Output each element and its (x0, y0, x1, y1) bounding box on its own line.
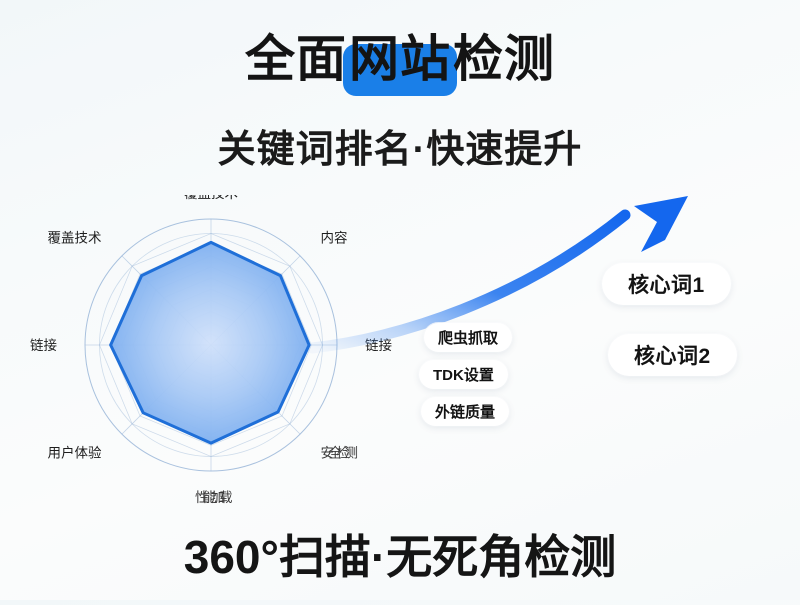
radar-axis-label-bottom-left: 用户体验 (48, 445, 102, 461)
keyword-pill-1[interactable]: 核心词1 (602, 263, 731, 305)
radar-axis-label-top-right: 内容 (321, 230, 348, 246)
radar-axis-label-right: 链接 (365, 337, 392, 353)
radar-axis-label-left: 链接 (30, 337, 57, 353)
page-title: 全面网站检测 (0, 34, 800, 84)
title-highlight-text: 网站 (349, 31, 451, 87)
feature-pill-backlink[interactable]: 外链质量 (421, 397, 509, 426)
radar-axis-label-top-left: 覆盖技术 (48, 231, 102, 246)
radar-axis-label-bottom-right: 安全检测 (321, 445, 358, 461)
radar-axis-label-bottom: 性能加载 (195, 490, 232, 505)
radar-chart: 覆盖技术内容链接安全检测性能加载用户体验链接覆盖技术 (30, 195, 430, 505)
radar-chart-svg: 覆盖技术内容链接安全检测性能加载用户体验链接覆盖技术 (30, 195, 430, 505)
page-footer-slogan: 360°扫描·无死角检测 (0, 521, 800, 587)
page-subtitle: 关键词排名·快速提升 (0, 118, 800, 173)
feature-pill-tdk[interactable]: TDK设置 (419, 360, 508, 389)
title-suffix: 检测 (453, 31, 555, 87)
title-highlight-wrap: 网站 (347, 34, 453, 84)
arrow-head (634, 196, 688, 252)
title-prefix: 全面 (245, 31, 347, 87)
feature-pill-crawl[interactable]: 爬虫抓取 (424, 323, 512, 352)
keyword-pill-2[interactable]: 核心词2 (608, 334, 737, 376)
radar-axis-label-top: 覆盖技术 (184, 195, 238, 201)
